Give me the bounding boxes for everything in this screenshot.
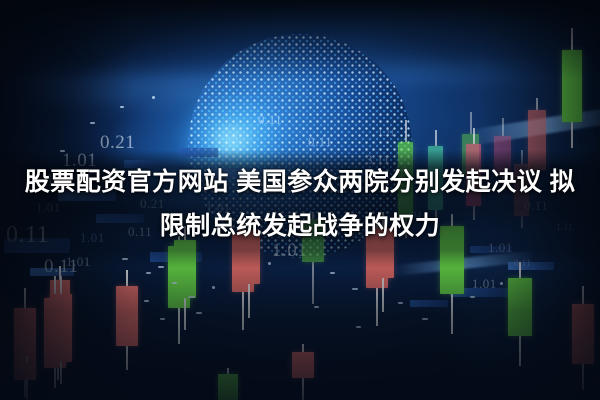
headline-line-2: 限制总统发起战争的权力 bbox=[8, 204, 592, 248]
news-banner: 0.11 0.11 0.11 1.01 1.01 1.01 1.01 0.21 … bbox=[0, 0, 600, 400]
headline: 股票配资官方网站 美国参众两院分别发起决议 拟 限制总统发起战争的权力 bbox=[0, 160, 600, 248]
headline-line-1: 股票配资官方网站 美国参众两院分别发起决议 拟 bbox=[8, 160, 592, 204]
